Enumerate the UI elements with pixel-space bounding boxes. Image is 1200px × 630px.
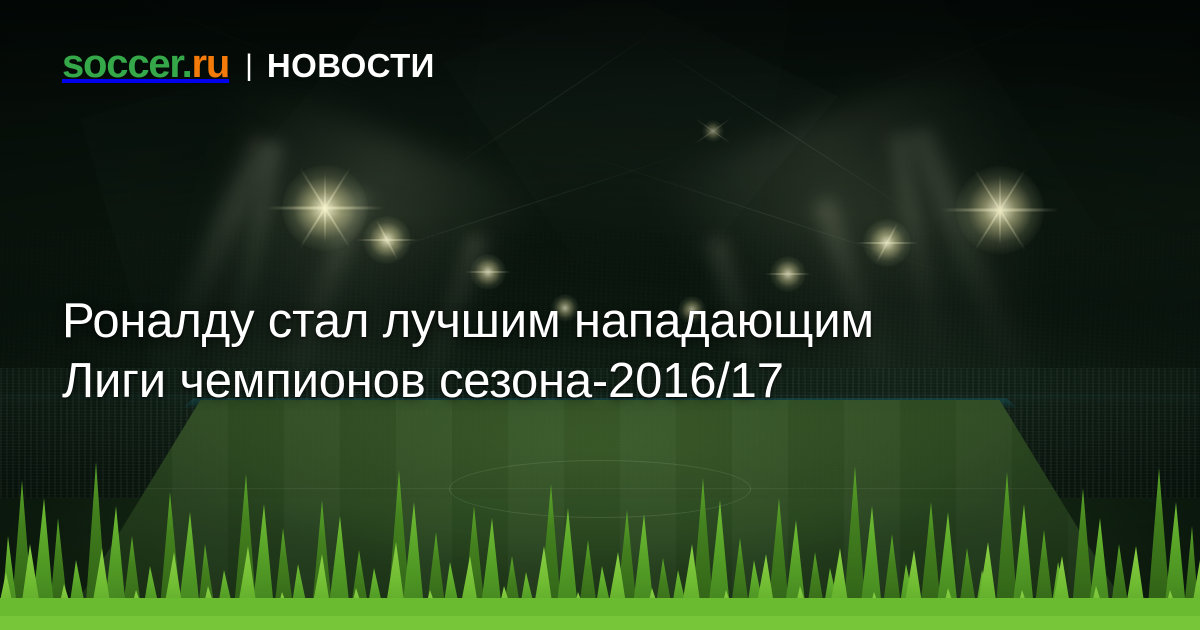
logo-dot: .	[182, 42, 192, 86]
headline-line-1: Роналду стал лучшим нападающим	[62, 291, 1142, 351]
soccer-ru-logo[interactable]: soccer.ru	[62, 44, 229, 84]
soccer-ru-news-card: soccer.ru | НОВОСТИ Роналду стал лучшим …	[0, 0, 1200, 630]
section-label-news: НОВОСТИ	[267, 49, 435, 82]
grass-foreground	[0, 440, 1200, 630]
headline-title: Роналду стал лучшим нападающим Лиги чемп…	[62, 291, 1142, 411]
site-header: soccer.ru | НОВОСТИ	[62, 44, 435, 84]
logo-name-text: soccer	[62, 42, 182, 86]
logo-tld-text: ru	[192, 42, 230, 86]
headline-line-2: Лиги чемпионов сезона-2016/17	[62, 351, 1142, 411]
header-separator: |	[245, 51, 253, 81]
